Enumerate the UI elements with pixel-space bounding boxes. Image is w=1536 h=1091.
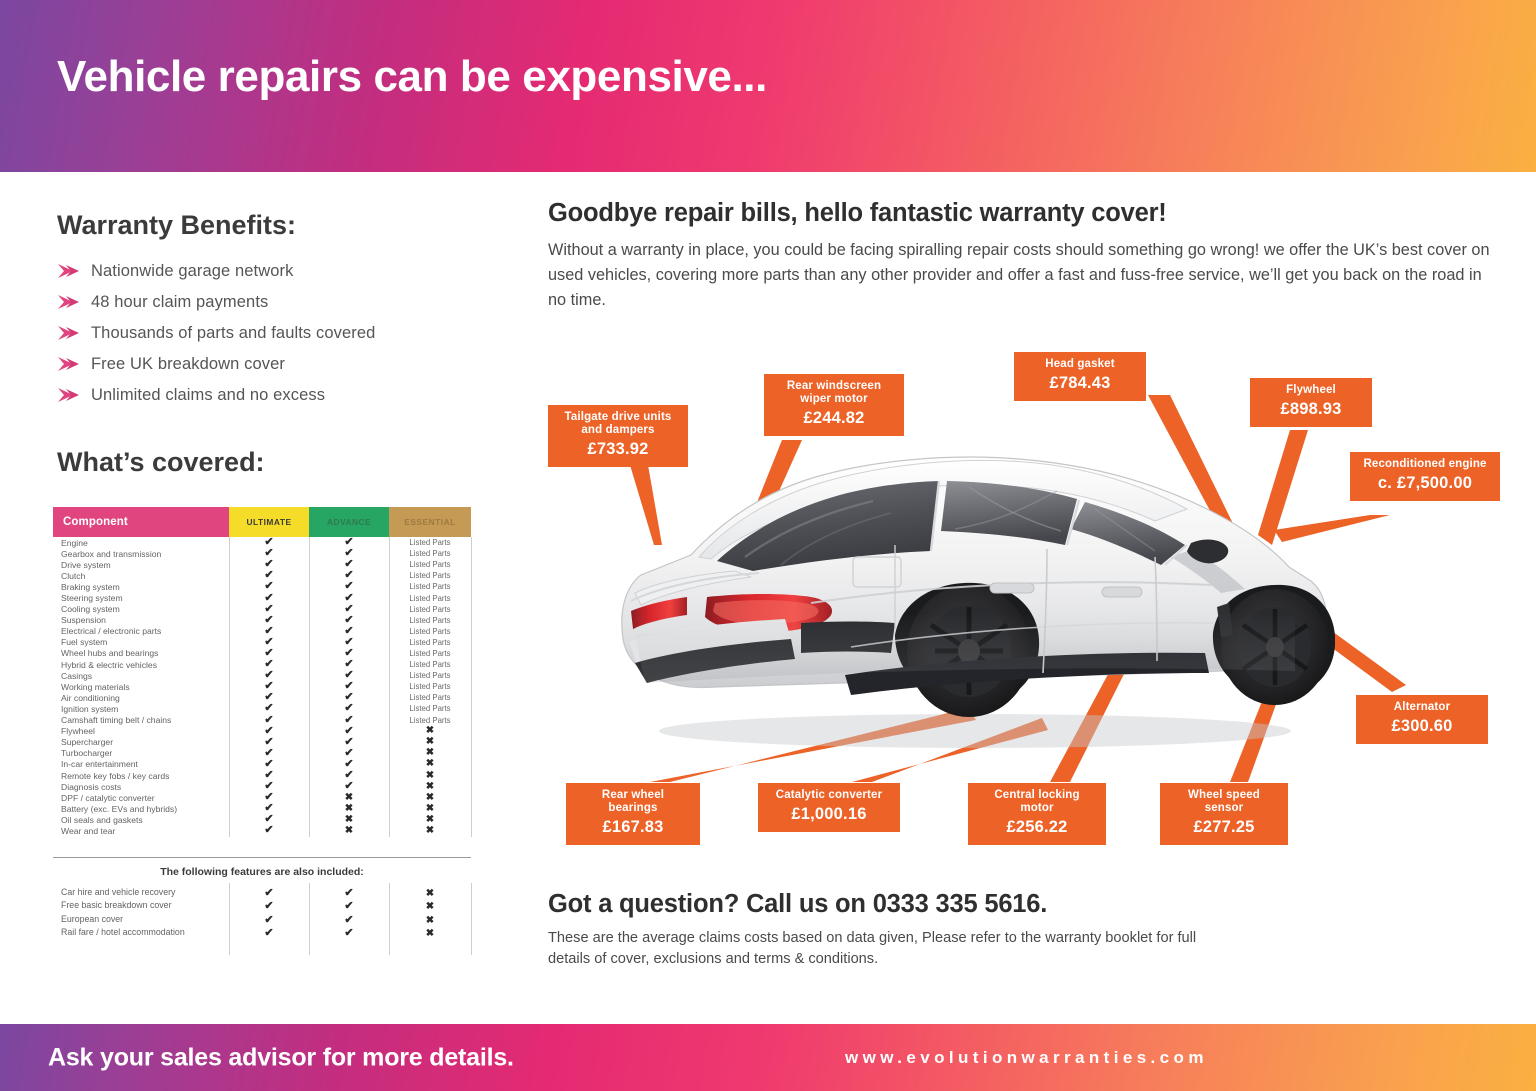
cross-icon: ✖ bbox=[426, 725, 434, 736]
callout-central-locking-motor[interactable]: Central locking motor £256.22 bbox=[968, 783, 1106, 845]
car-illustration bbox=[595, 425, 1335, 765]
cross-icon: ✖ bbox=[345, 803, 353, 814]
cell-component: Wheel hubs and bearings bbox=[53, 648, 229, 658]
list-item: 48 hour claim payments bbox=[57, 287, 487, 318]
benefit-label: Unlimited claims and no excess bbox=[91, 386, 325, 405]
callout-label: Rear wheel bearings bbox=[576, 789, 690, 815]
callout-reconditioned-engine[interactable]: Reconditioned engine c. £7,500.00 bbox=[1350, 452, 1500, 501]
list-item: Free UK breakdown cover bbox=[57, 349, 487, 380]
benefit-label: Free UK breakdown cover bbox=[91, 355, 285, 374]
cell-essential: ✖ bbox=[389, 804, 471, 814]
cell-component: Braking system bbox=[53, 582, 229, 592]
cell-essential: Listed Parts bbox=[389, 571, 471, 580]
cell-ultimate: ✔ bbox=[229, 825, 309, 836]
callout-amount: £167.83 bbox=[576, 818, 690, 837]
table-row: Suspension✔✔Listed Parts bbox=[53, 615, 471, 626]
cross-icon: ✖ bbox=[345, 825, 353, 836]
header-banner: Vehicle repairs can be expensive... bbox=[0, 0, 1536, 172]
cross-icon: ✖ bbox=[426, 792, 434, 803]
cell-component: Free basic breakdown cover bbox=[53, 900, 229, 910]
cell-component: Suspension bbox=[53, 615, 229, 625]
table-row: Turbocharger✔✔✖ bbox=[53, 748, 471, 759]
cell-component: Steering system bbox=[53, 593, 229, 603]
list-item: Thousands of parts and faults covered bbox=[57, 318, 487, 349]
table-row: Hybrid & electric vehicles✔✔Listed Parts bbox=[53, 659, 471, 670]
cell-component: Cooling system bbox=[53, 604, 229, 614]
cell-component: Turbocharger bbox=[53, 748, 229, 758]
table-row: Camshaft timing belt / chains✔✔Listed Pa… bbox=[53, 715, 471, 726]
callout-head-gasket[interactable]: Head gasket £784.43 bbox=[1014, 352, 1146, 401]
table-column-divider bbox=[229, 883, 230, 955]
table-row: Diagnosis costs✔✔✖ bbox=[53, 781, 471, 792]
cell-essential: Listed Parts bbox=[389, 605, 471, 614]
benefit-label: Thousands of parts and faults covered bbox=[91, 324, 375, 343]
callout-rear-wheel-bearings[interactable]: Rear wheel bearings £167.83 bbox=[566, 783, 700, 845]
cell-component: Working materials bbox=[53, 682, 229, 692]
callout-amount: £277.25 bbox=[1170, 818, 1278, 837]
cell-advance: ✖ bbox=[309, 814, 389, 825]
cross-icon: ✖ bbox=[426, 747, 434, 758]
callout-catalytic-converter[interactable]: Catalytic converter £1,000.16 bbox=[758, 783, 900, 832]
chevron-right-icon bbox=[57, 326, 91, 341]
cell-essential: Listed Parts bbox=[389, 627, 471, 636]
cell-component: Wear and tear bbox=[53, 826, 229, 836]
table-row: Oil seals and gaskets✔✖✖ bbox=[53, 814, 471, 825]
cell-essential: ✖ bbox=[389, 748, 471, 758]
column-header-advance: ADVANCE bbox=[309, 507, 389, 537]
cell-essential: ✖ bbox=[389, 726, 471, 736]
callout-label: Tailgate drive units and dampers bbox=[558, 411, 678, 437]
cell-essential: ✖ bbox=[389, 759, 471, 769]
cell-essential: Listed Parts bbox=[389, 704, 471, 713]
cell-essential: Listed Parts bbox=[389, 638, 471, 647]
also-included-table: Car hire and vehicle recovery✔✔✖Free bas… bbox=[53, 885, 471, 939]
callout-label: Wheel speed sensor bbox=[1170, 789, 1278, 815]
footer-website-url[interactable]: www.evolutionwarranties.com bbox=[845, 1048, 1208, 1068]
callout-rear-windscreen-wiper-motor[interactable]: Rear windscreen wiper motor £244.82 bbox=[764, 374, 904, 436]
cross-icon: ✖ bbox=[426, 736, 434, 747]
callout-label: Central locking motor bbox=[978, 789, 1096, 815]
cross-icon: ✖ bbox=[426, 803, 434, 814]
cell-essential: Listed Parts bbox=[389, 582, 471, 591]
cell-essential: Listed Parts bbox=[389, 560, 471, 569]
cell-component: Hybrid & electric vehicles bbox=[53, 660, 229, 670]
cell-essential: Listed Parts bbox=[389, 671, 471, 680]
cell-component: Battery (exc. EVs and hybrids) bbox=[53, 804, 229, 814]
table-row: In-car entertainment✔✔✖ bbox=[53, 759, 471, 770]
cross-icon: ✖ bbox=[426, 770, 434, 781]
table-row: Flywheel✔✔✖ bbox=[53, 726, 471, 737]
cell-essential: Listed Parts bbox=[389, 616, 471, 625]
coverage-table: Component ULTIMATE ADVANCE ESSENTIAL Eng… bbox=[53, 507, 471, 837]
callout-label: Rear windscreen wiper motor bbox=[774, 380, 894, 406]
cell-essential: ✖ bbox=[389, 923, 471, 941]
footer-banner: Ask your sales advisor for more details.… bbox=[0, 1024, 1536, 1091]
table-row: Fuel system✔✔Listed Parts bbox=[53, 637, 471, 648]
table-row: Electrical / electronic parts✔✔Listed Pa… bbox=[53, 626, 471, 637]
cell-component: Engine bbox=[53, 538, 229, 548]
cross-icon: ✖ bbox=[426, 928, 434, 939]
column-header-essential: ESSENTIAL bbox=[389, 507, 471, 537]
cell-advance: ✔ bbox=[309, 781, 389, 792]
cross-icon: ✖ bbox=[426, 814, 434, 825]
cell-component: Casings bbox=[53, 671, 229, 681]
cell-component: Oil seals and gaskets bbox=[53, 815, 229, 825]
chevron-right-icon bbox=[57, 357, 91, 372]
cell-component: Car hire and vehicle recovery bbox=[53, 887, 229, 897]
table-row: Braking system✔✔Listed Parts bbox=[53, 581, 471, 592]
main-heading: Goodbye repair bills, hello fantastic wa… bbox=[548, 199, 1167, 228]
benefits-list: Nationwide garage network 48 hour claim … bbox=[57, 256, 487, 411]
vehicle-diagram: Tailgate drive units and dampers £733.92… bbox=[530, 330, 1520, 860]
cell-essential: ✖ bbox=[389, 826, 471, 836]
cell-component: Clutch bbox=[53, 571, 229, 581]
table-row: Gearbox and transmission✔✔Listed Parts bbox=[53, 548, 471, 559]
footer-cta: Ask your sales advisor for more details. bbox=[48, 1043, 514, 1072]
cell-component: DPF / catalytic converter bbox=[53, 793, 229, 803]
table-row: Remote key fobs / key cards✔✔✖ bbox=[53, 770, 471, 781]
cell-component: Fuel system bbox=[53, 637, 229, 647]
table-row: Engine✔✔Listed Parts bbox=[53, 537, 471, 548]
also-included-heading: The following features are also included… bbox=[53, 866, 471, 878]
table-column-divider bbox=[471, 883, 472, 955]
cell-ultimate: ✔ bbox=[229, 923, 309, 941]
cell-essential: Listed Parts bbox=[389, 538, 471, 547]
cross-icon: ✖ bbox=[426, 825, 434, 836]
cell-component: Flywheel bbox=[53, 726, 229, 736]
cell-advance: ✖ bbox=[309, 825, 389, 836]
cell-essential: Listed Parts bbox=[389, 649, 471, 658]
cell-essential: Listed Parts bbox=[389, 693, 471, 702]
list-item: Nationwide garage network bbox=[57, 256, 487, 287]
callout-amount: £244.82 bbox=[774, 409, 894, 428]
table-row: Cooling system✔✔Listed Parts bbox=[53, 604, 471, 615]
page-title: Vehicle repairs can be expensive... bbox=[57, 52, 767, 102]
table-row: Drive system✔✔Listed Parts bbox=[53, 559, 471, 570]
flyer-page: Vehicle repairs can be expensive... Warr… bbox=[0, 0, 1536, 1091]
column-header-ultimate: ULTIMATE bbox=[229, 507, 309, 537]
cell-component: Drive system bbox=[53, 560, 229, 570]
callout-label: Catalytic converter bbox=[768, 789, 890, 802]
table-row: Battery (exc. EVs and hybrids)✔✖✖ bbox=[53, 803, 471, 814]
callout-wheel-speed-sensor[interactable]: Wheel speed sensor £277.25 bbox=[1160, 783, 1288, 845]
divider bbox=[53, 857, 471, 858]
table-header-row: Component ULTIMATE ADVANCE ESSENTIAL bbox=[53, 507, 471, 537]
cell-component: Supercharger bbox=[53, 737, 229, 747]
cell-component: Ignition system bbox=[53, 704, 229, 714]
callout-amount: £898.93 bbox=[1260, 400, 1362, 419]
cell-essential: ✖ bbox=[389, 737, 471, 747]
cell-component: Electrical / electronic parts bbox=[53, 626, 229, 636]
cell-component: Remote key fobs / key cards bbox=[53, 771, 229, 781]
check-icon: ✔ bbox=[344, 780, 353, 792]
cell-component: Rail fare / hotel accommodation bbox=[53, 927, 229, 937]
callout-amount: £256.22 bbox=[978, 818, 1096, 837]
callout-amount: £733.92 bbox=[558, 440, 678, 459]
table-row: Working materials✔✔Listed Parts bbox=[53, 681, 471, 692]
callout-label: Reconditioned engine bbox=[1360, 458, 1490, 471]
check-icon: ✔ bbox=[264, 824, 273, 836]
benefit-label: 48 hour claim payments bbox=[91, 293, 268, 312]
cell-component: In-car entertainment bbox=[53, 759, 229, 769]
table-row: DPF / catalytic converter✔✖✖ bbox=[53, 792, 471, 803]
cell-essential: ✖ bbox=[389, 782, 471, 792]
cell-component: Diagnosis costs bbox=[53, 782, 229, 792]
chevron-right-icon bbox=[57, 295, 91, 310]
chevron-right-icon bbox=[57, 388, 91, 403]
cell-component: Air conditioning bbox=[53, 693, 229, 703]
table-row: Wheel hubs and bearings✔✔Listed Parts bbox=[53, 648, 471, 659]
cell-essential: Listed Parts bbox=[389, 594, 471, 603]
cell-essential: ✖ bbox=[389, 771, 471, 781]
cell-component: Gearbox and transmission bbox=[53, 549, 229, 559]
cell-advance: ✖ bbox=[309, 803, 389, 814]
table-row: Steering system✔✔Listed Parts bbox=[53, 592, 471, 603]
cell-component: Camshaft timing belt / chains bbox=[53, 715, 229, 725]
table-body: Engine✔✔Listed PartsGearbox and transmis… bbox=[53, 537, 471, 837]
cell-essential: Listed Parts bbox=[389, 682, 471, 691]
disclaimer-text: These are the average claims costs based… bbox=[548, 928, 1228, 970]
cross-icon: ✖ bbox=[426, 758, 434, 769]
table-column-divider bbox=[389, 883, 390, 955]
cell-essential: ✖ bbox=[389, 815, 471, 825]
table-row: Supercharger✔✔✖ bbox=[53, 737, 471, 748]
column-header-component: Component bbox=[53, 507, 229, 537]
check-icon: ✔ bbox=[344, 927, 353, 939]
table-row: Air conditioning✔✔Listed Parts bbox=[53, 692, 471, 703]
callout-amount: £784.43 bbox=[1024, 374, 1136, 393]
callout-amount: £300.60 bbox=[1366, 717, 1478, 736]
cell-essential: Listed Parts bbox=[389, 549, 471, 558]
chevron-right-icon bbox=[57, 264, 91, 279]
table-row: Ignition system✔✔Listed Parts bbox=[53, 703, 471, 714]
callout-label: Flywheel bbox=[1260, 384, 1362, 397]
cell-essential: Listed Parts bbox=[389, 716, 471, 725]
cell-advance: ✖ bbox=[309, 792, 389, 803]
cell-essential: Listed Parts bbox=[389, 660, 471, 669]
callout-tailgate-drive-units[interactable]: Tailgate drive units and dampers £733.92 bbox=[548, 405, 688, 467]
cross-icon: ✖ bbox=[426, 781, 434, 792]
callout-label: Head gasket bbox=[1024, 358, 1136, 371]
benefit-label: Nationwide garage network bbox=[91, 262, 293, 281]
coverage-heading: What’s covered: bbox=[57, 447, 265, 478]
callout-alternator[interactable]: Alternator £300.60 bbox=[1356, 695, 1488, 744]
benefits-heading: Warranty Benefits: bbox=[57, 210, 296, 241]
cross-icon: ✖ bbox=[345, 814, 353, 825]
callout-label: Alternator bbox=[1366, 701, 1478, 714]
cross-icon: ✖ bbox=[345, 792, 353, 803]
table-row: Clutch✔✔Listed Parts bbox=[53, 570, 471, 581]
check-icon: ✔ bbox=[264, 927, 273, 939]
table-row: Casings✔✔Listed Parts bbox=[53, 670, 471, 681]
main-paragraph: Without a warranty in place, you could b… bbox=[548, 238, 1493, 313]
cell-essential: ✖ bbox=[389, 793, 471, 803]
table-column-divider bbox=[309, 883, 310, 955]
question-heading: Got a question? Call us on 0333 335 5616… bbox=[548, 890, 1047, 919]
cell-component: European cover bbox=[53, 914, 229, 924]
callout-amount: £1,000.16 bbox=[768, 805, 890, 824]
callout-amount: c. £7,500.00 bbox=[1360, 474, 1490, 493]
cell-advance: ✔ bbox=[309, 923, 389, 941]
table-row: Rail fare / hotel accommodation✔✔✖ bbox=[53, 926, 471, 940]
table-row: Wear and tear✔✖✖ bbox=[53, 825, 471, 836]
callout-flywheel[interactable]: Flywheel £898.93 bbox=[1250, 378, 1372, 427]
list-item: Unlimited claims and no excess bbox=[57, 380, 487, 411]
